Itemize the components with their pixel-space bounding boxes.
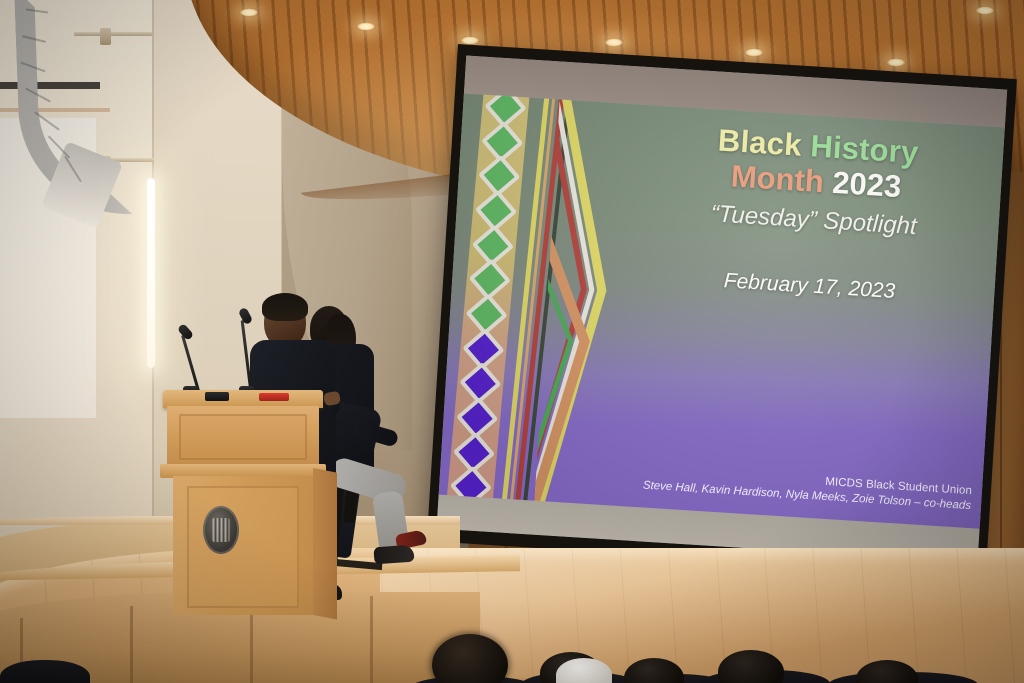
heading-word-month: Month <box>730 159 825 200</box>
audience-shoulder <box>0 660 90 683</box>
auditorium-photo: Black History Month 2023 “Tuesday” Spotl… <box>0 0 1024 683</box>
heading-word-year: 2023 <box>831 165 902 204</box>
downlight-icon <box>604 38 624 47</box>
presentation-slide: Black History Month 2023 “Tuesday” Spotl… <box>439 93 1005 528</box>
school-crest-seal-icon <box>203 506 239 554</box>
podium-front-panel <box>173 476 313 615</box>
downlight-icon <box>239 8 259 17</box>
red-device-on-podium[interactable] <box>259 393 289 401</box>
slide-credits: MICDS Black Student Union Steve Hall, Ka… <box>589 461 972 512</box>
podium-upper-panel <box>167 406 319 468</box>
podium-control-box[interactable] <box>205 392 229 401</box>
projection-screen[interactable]: Black History Month 2023 “Tuesday” Spotl… <box>425 44 1023 599</box>
podium-side-face <box>313 468 337 620</box>
screen-surface: Black History Month 2023 “Tuesday” Spotl… <box>437 56 1008 563</box>
downlight-icon <box>356 22 376 31</box>
slide-text-block: Black History Month 2023 “Tuesday” Spotl… <box>632 119 996 310</box>
vertical-led-strip-light <box>147 178 155 368</box>
downlight-icon <box>886 58 906 67</box>
downlight-icon <box>744 48 764 57</box>
heading-word-black: Black <box>717 123 803 163</box>
wooden-podium <box>163 390 323 615</box>
slide-date: February 17, 2023 <box>632 264 987 310</box>
downlight-icon <box>975 6 995 15</box>
